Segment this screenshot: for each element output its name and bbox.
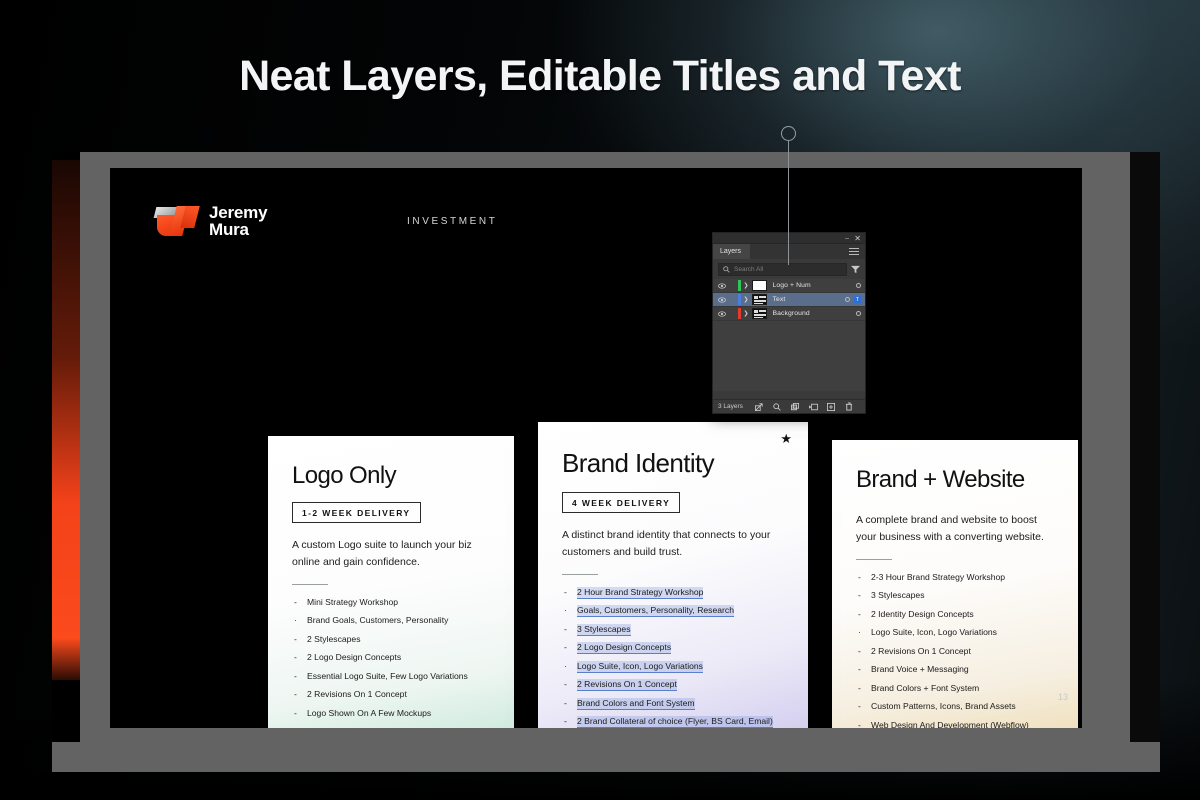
bullet-icon: -	[564, 699, 567, 709]
search-input[interactable]: Search All	[718, 263, 847, 276]
feature-item[interactable]: -2 Identity Design Concepts	[856, 610, 1054, 620]
pricing-card-brand-website[interactable]: Brand + Website A complete brand and web…	[832, 440, 1078, 728]
filter-icon[interactable]	[851, 265, 860, 274]
feature-item[interactable]: -Brand Voice + Messaging	[856, 665, 1054, 675]
feature-text: Goals, Customers, Personality, Research	[577, 605, 734, 617]
bullet-icon: -	[564, 680, 567, 690]
layer-row-controls	[856, 283, 861, 288]
layers-list-empty-area	[713, 321, 865, 391]
bullet-icon: -	[294, 635, 297, 645]
layers-panel[interactable]: – ✕ Layers Search All ❯Logo + Num❯TextT❯…	[712, 232, 866, 414]
bullet-icon: -	[858, 647, 861, 657]
feature-item[interactable]: -2 Revisions On 1 Concept	[292, 690, 490, 700]
next-slide-backdrop	[1130, 152, 1160, 742]
new-group-icon[interactable]	[791, 402, 800, 411]
feature-text: Web Design And Development (Webflow)	[871, 720, 1029, 728]
feature-item[interactable]: -Brand Colors	[292, 727, 490, 728]
feature-text: 2 Brand Collateral of choice (Flyer, BS …	[577, 716, 773, 728]
feature-text: 2-3 Hour Brand Strategy Workshop	[871, 572, 1005, 582]
link-layers-icon[interactable]	[755, 402, 764, 411]
feature-item[interactable]: -2 Hour Brand Strategy Workshop	[562, 588, 784, 598]
feature-text: Brand Voice + Messaging	[871, 664, 969, 674]
bullet-icon: -	[294, 672, 297, 682]
callout-dot-icon	[781, 126, 796, 141]
brand-name-line1: Jeremy	[209, 204, 267, 221]
bullet-icon: -	[294, 727, 297, 728]
tab-layers[interactable]: Layers	[713, 244, 750, 259]
brand-lockup: Jeremy Mura	[155, 204, 267, 239]
delete-layer-icon[interactable]	[845, 402, 854, 411]
bullet-icon: -	[564, 643, 567, 653]
bullet-icon: ·	[858, 628, 861, 638]
feature-text: 3 Stylescapes	[577, 624, 631, 636]
bullet-icon: -	[858, 591, 861, 601]
bullet-icon: -	[564, 625, 567, 635]
bullet-icon: -	[294, 653, 297, 663]
feature-list: -Mini Strategy Workshop·Brand Goals, Cus…	[292, 598, 490, 728]
minimize-icon[interactable]: –	[845, 234, 849, 243]
layer-thumbnail	[752, 294, 767, 305]
feature-item[interactable]: -Brand Colors and Font System	[562, 699, 784, 709]
feature-item[interactable]: -Essential Logo Suite, Few Logo Variatio…	[292, 672, 490, 682]
feature-item[interactable]: -2 Logo Design Concepts	[292, 653, 490, 663]
bullet-icon: -	[294, 709, 297, 719]
star-icon: ★	[780, 432, 792, 445]
card-divider	[562, 574, 598, 575]
panel-menu-icon[interactable]	[849, 248, 859, 257]
layers-panel-titlebar[interactable]: – ✕	[713, 233, 865, 244]
layer-type-badge: T	[854, 296, 861, 303]
feature-text: 2 Hour Brand Strategy Workshop	[577, 587, 703, 599]
chevron-right-icon[interactable]: ❯	[741, 282, 752, 289]
feature-item[interactable]: -2 Stylescapes	[292, 635, 490, 645]
feature-list: -2 Hour Brand Strategy Workshop·Goals, C…	[562, 588, 784, 728]
search-icon[interactable]	[773, 402, 782, 411]
feature-text: 2 Stylescapes	[307, 634, 361, 644]
layers-panel-tabbar: Layers	[713, 244, 865, 259]
feature-item[interactable]: -Logo Shown On A Few Mockups	[292, 709, 490, 719]
feature-text: Brand Colors	[307, 726, 357, 728]
layer-thumbnail	[752, 280, 767, 291]
bullet-icon: -	[294, 690, 297, 700]
close-icon[interactable]: ✕	[854, 233, 861, 244]
feature-text: Brand Colors + Font System	[871, 683, 979, 693]
card-description: A distinct brand identity that connects …	[562, 527, 784, 562]
layer-row-controls	[856, 311, 861, 316]
feature-text: Brand Goals, Customers, Personality	[307, 615, 448, 625]
bullet-icon: -	[564, 588, 567, 598]
bullet-icon: ·	[564, 606, 567, 616]
new-layer-icon[interactable]	[827, 402, 836, 411]
feature-text: 2 Logo Design Concepts	[307, 652, 401, 662]
bullet-icon: -	[858, 702, 861, 712]
card-divider	[856, 559, 892, 560]
feature-item[interactable]: -3 Stylescapes	[562, 625, 784, 635]
brand-name-line2: Mura	[209, 221, 267, 238]
bullet-icon: -	[858, 573, 861, 583]
delivery-badge: 4 WEEK DELIVERY	[562, 492, 680, 513]
card-title: Brand + Website	[856, 466, 1054, 494]
feature-item[interactable]: ·Goals, Customers, Personality, Research	[562, 606, 784, 616]
layer-row[interactable]: ❯TextT	[713, 293, 865, 307]
feature-item[interactable]: -2 Revisions On 1 Concept	[562, 680, 784, 690]
previous-slide-thumbnail[interactable]: 12	[52, 160, 80, 680]
layer-row[interactable]: ❯Background	[713, 307, 865, 321]
layer-name: Text	[773, 296, 786, 303]
feature-item[interactable]: -3 Stylescapes	[856, 591, 1054, 601]
feature-item[interactable]: -2 Brand Collateral of choice (Flyer, BS…	[562, 717, 784, 727]
card-title: Brand Identity	[562, 448, 784, 479]
feature-text: 2 Revisions On 1 Concept	[307, 689, 407, 699]
feature-item[interactable]: -2 Revisions On 1 Concept	[856, 647, 1054, 657]
feature-text: 2 Revisions On 1 Concept	[577, 679, 677, 691]
page-title: Neat Layers, Editable Titles and Text	[0, 52, 1200, 101]
feature-text: Logo Shown On A Few Mockups	[307, 708, 431, 718]
feature-text: Logo Suite, Icon, Logo Variations	[871, 627, 997, 637]
bullet-icon: -	[564, 717, 567, 727]
card-description: A complete brand and website to boost yo…	[856, 512, 1054, 547]
layer-target-icon[interactable]	[856, 283, 861, 288]
feature-item[interactable]: ·Brand Goals, Customers, Personality	[292, 616, 490, 626]
chevron-right-icon[interactable]: ❯	[741, 310, 752, 317]
layer-target-icon[interactable]	[845, 297, 850, 302]
card-description: A custom Logo suite to launch your biz o…	[292, 537, 490, 572]
feature-text: Logo Suite, Icon, Logo Variations	[577, 661, 703, 673]
bullet-icon: -	[858, 684, 861, 694]
feature-text: 2 Identity Design Concepts	[871, 609, 974, 619]
eye-icon[interactable]	[716, 283, 728, 289]
bullet-icon: -	[858, 665, 861, 675]
page-number: 13	[1058, 692, 1068, 702]
jm-monogram-icon	[155, 205, 198, 238]
card-title: Logo Only	[292, 462, 490, 490]
add-mask-icon[interactable]	[809, 402, 818, 411]
feature-item[interactable]: -Web Design And Development (Webflow)	[856, 721, 1054, 728]
bullet-icon: ·	[294, 616, 297, 626]
layer-name: Background	[773, 310, 810, 317]
feature-text: 2 Revisions On 1 Concept	[871, 646, 971, 656]
eye-icon[interactable]	[716, 297, 728, 303]
brand-name: Jeremy Mura	[209, 204, 267, 239]
feature-text: Custom Patterns, Icons, Brand Assets	[871, 701, 1016, 711]
feature-text: 3 Stylescapes	[871, 590, 925, 600]
card-divider	[292, 584, 328, 585]
layer-name: Logo + Num	[773, 282, 811, 289]
bullet-icon: -	[294, 598, 297, 608]
feature-item[interactable]: -Mini Strategy Workshop	[292, 598, 490, 608]
layer-row[interactable]: ❯Logo + Num	[713, 279, 865, 293]
layers-search-bar: Search All	[713, 259, 865, 279]
feature-item[interactable]: ·Logo Suite, Icon, Logo Variations	[856, 628, 1054, 638]
layer-count-label: 3 Layers	[718, 403, 743, 410]
bullet-icon: -	[858, 610, 861, 620]
section-label: INVESTMENT	[407, 216, 497, 227]
feature-item[interactable]: -Custom Patterns, Icons, Brand Assets	[856, 702, 1054, 712]
delivery-badge: 1-2 WEEK DELIVERY	[292, 502, 421, 523]
bullet-icon: ·	[564, 662, 567, 672]
eye-icon[interactable]	[716, 311, 728, 317]
layer-target-icon[interactable]	[856, 311, 861, 316]
layer-row-controls: T	[845, 296, 861, 303]
feature-text: Brand Colors and Font System	[577, 698, 695, 710]
feature-item[interactable]: ·Logo Suite, Icon, Logo Variations	[562, 662, 784, 672]
pricing-card-brand-identity[interactable]: ★ Brand Identity 4 WEEK DELIVERY A disti…	[538, 422, 808, 728]
search-placeholder: Search All	[734, 266, 763, 273]
callout-connector-line	[788, 140, 789, 265]
slide-canvas[interactable]: Jeremy Mura INVESTMENT Logo Only 1-2 WEE…	[110, 168, 1082, 728]
chevron-right-icon[interactable]: ❯	[741, 296, 752, 303]
bullet-icon: -	[858, 721, 861, 728]
pricing-card-logo-only[interactable]: Logo Only 1-2 WEEK DELIVERY A custom Log…	[268, 436, 514, 728]
feature-item[interactable]: -2 Logo Design Concepts	[562, 643, 784, 653]
layer-thumbnail	[752, 308, 767, 319]
feature-text: 2 Logo Design Concepts	[577, 642, 671, 654]
feature-item[interactable]: -Brand Colors + Font System	[856, 684, 1054, 694]
feature-text: Mini Strategy Workshop	[307, 597, 398, 607]
feature-item[interactable]: -2-3 Hour Brand Strategy Workshop	[856, 573, 1054, 583]
layers-list[interactable]: ❯Logo + Num❯TextT❯Background	[713, 279, 865, 321]
search-icon	[723, 266, 730, 273]
feature-list: -2-3 Hour Brand Strategy Workshop-3 Styl…	[856, 573, 1054, 728]
layers-panel-footer: 3 Layers	[713, 399, 865, 413]
feature-text: Essential Logo Suite, Few Logo Variation…	[307, 671, 468, 681]
